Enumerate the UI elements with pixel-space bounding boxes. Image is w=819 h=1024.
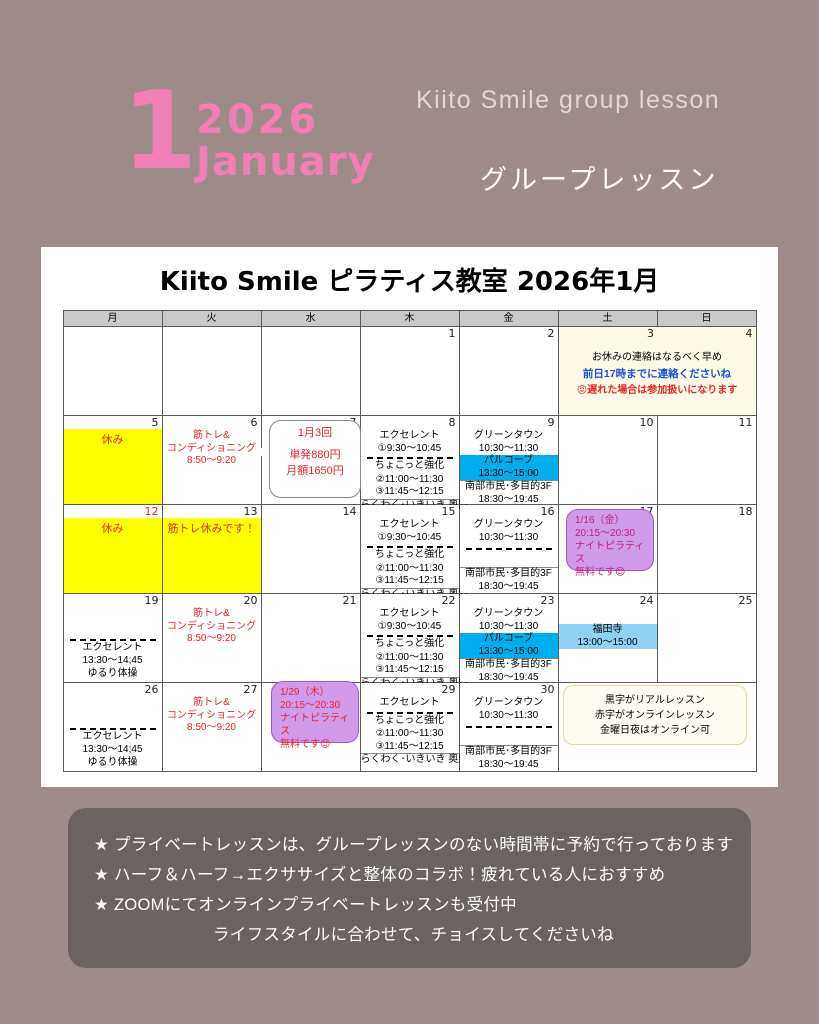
date-number: 4	[746, 327, 753, 340]
event-line: グリーンタウン	[460, 697, 558, 710]
month-name-en: January	[196, 139, 375, 185]
event-line: ちょこっと強化	[367, 712, 453, 728]
event-line: ①9:30〜10:45	[361, 621, 459, 634]
pricing-callout-tail	[249, 445, 271, 459]
date-number: 2	[548, 327, 555, 340]
calendar-cell-23[interactable]: 23 グリーンタウン 10:30〜11:30 パルコーブ 13:30〜15:00…	[459, 594, 558, 683]
date-number: 9	[548, 416, 555, 429]
calendar-cell-11[interactable]: 11	[657, 416, 756, 505]
event-line: 10:30〜11:30	[460, 443, 558, 456]
event-line: ①9:30〜10:45	[361, 443, 459, 456]
night-pilates-callout-jan16: 1/16（金） 20:15〜20:30 ナイトピラティス 無料です😊	[566, 509, 654, 571]
weekday-header-fri: 金	[459, 311, 558, 327]
event-line: 8:50〜9:20	[163, 633, 261, 646]
event-line: ちょこっと強化	[367, 457, 453, 473]
event-line: エクセレント	[361, 608, 459, 621]
year-label: 2026	[196, 97, 319, 143]
event-line: 筋トレ&	[163, 608, 261, 621]
date-number: 6	[251, 416, 258, 429]
event-line: 8:50〜9:20	[163, 722, 261, 735]
date-number: 14	[343, 505, 357, 518]
night-pilates-callout-jan29: 1/29（木） 20:15〜20:30 ナイトピラティス 無料です😊	[271, 681, 359, 743]
night-line-4: 無料です😊	[280, 738, 352, 751]
weekday-header-sun: 日	[657, 311, 756, 327]
calendar-cell-26[interactable]: 26 エクセレント 13:30〜14;45 ゆるり体操	[63, 683, 162, 772]
month-number: 1	[122, 78, 195, 186]
event-line: ②11:00〜11:30	[361, 728, 459, 741]
calendar-cell-21[interactable]: 21	[261, 594, 360, 683]
holiday-label: 休み	[64, 518, 162, 536]
event-line: ③11:45〜12:15	[361, 486, 459, 499]
date-number: 16	[541, 505, 555, 518]
event-line-highlight: 福田寺	[559, 624, 657, 637]
event-line: ゆるり体操	[64, 757, 162, 770]
date-number: 15	[442, 505, 456, 518]
event-spacer	[460, 731, 558, 745]
date-number: 5	[152, 416, 159, 429]
pricing-line-1: 1月3回	[276, 425, 354, 441]
event-line: 10:30〜11:30	[460, 532, 558, 545]
event-line: グリーンタウン	[460, 430, 558, 443]
event-line: エクセレント	[361, 430, 459, 443]
event-line: ②11:00〜11:30	[361, 652, 459, 665]
brand-subtitle-en: Kiito Smile group lesson	[416, 86, 720, 115]
divider	[466, 726, 552, 730]
calendar-cell-18[interactable]: 18	[657, 505, 756, 594]
event-line: 南部市民･多目的3F	[460, 567, 558, 581]
event-line: エクセレント	[361, 697, 459, 710]
footer-line-4: ライフスタイルに合わせて、チョイスしてくださいね	[68, 920, 751, 950]
event-line: 10:30〜11:30	[460, 710, 558, 723]
weekday-header-wed: 水	[261, 311, 360, 327]
date-number: 8	[449, 416, 456, 429]
event-line: 南部市民･多目的3F	[460, 658, 558, 672]
night-line-3: ナイトピラティス	[575, 540, 647, 566]
calendar-cell-5[interactable]: 5 休み	[63, 416, 162, 505]
calendar-title: Kiito Smile ピラティス教室 2026年1月	[41, 261, 778, 298]
date-number: 20	[244, 594, 258, 607]
brand-subtitle-jp: グループレッスン	[480, 158, 718, 197]
calendar-cell-6[interactable]: 6 筋トレ& コンディショニング 8:50〜9:20	[162, 416, 261, 505]
event-line-highlight: 13:30〜15:00	[460, 468, 558, 481]
event-line: エクセレント	[70, 639, 156, 655]
calendar-cell-14[interactable]: 14	[261, 505, 360, 594]
date-number: 22	[442, 594, 456, 607]
event-line: ゆるり体操	[64, 668, 162, 681]
calendar-cell-10[interactable]: 10	[558, 416, 657, 505]
event-line: ③11:45〜12:15	[361, 664, 459, 677]
date-number: 11	[739, 416, 753, 429]
date-number: 1	[449, 327, 456, 340]
event-line: ③11:45〜12:15	[361, 575, 459, 588]
event-line: コンディショニング	[163, 710, 261, 723]
event-line: 南部市民･多目的3F	[460, 480, 558, 494]
date-number: 13	[244, 505, 258, 518]
night-line-2: 20:15〜20:30	[575, 527, 647, 540]
date-number: 24	[640, 594, 654, 607]
notice-line-2: 前日17時までに連絡くださいね	[559, 365, 756, 383]
night-line-1: 1/29（木）	[280, 686, 352, 699]
footer-line-2: ★ ハーフ＆ハーフ→エクササイズと整体のコラボ！疲れている人におすすめ	[68, 860, 751, 890]
event-line: 筋トレ&	[163, 697, 261, 710]
night-line-1: 1/16（金）	[575, 514, 647, 527]
calendar-cell-15[interactable]: 15 エクセレント ①9:30〜10:45 ちょこっと強化 ②11:00〜11:…	[360, 505, 459, 594]
event-line-highlight: パルコーブ	[460, 455, 558, 468]
calendar-cell-19[interactable]: 19 エクセレント 13:30〜14;45 ゆるり体操	[63, 594, 162, 683]
event-line: ①9:30〜10:45	[361, 532, 459, 545]
event-line: コンディショニング	[163, 621, 261, 634]
weekday-header-tue: 火	[162, 311, 261, 327]
notice-line-1: お休みの連絡はなるべく早め	[559, 351, 756, 365]
weekday-header-sat: 土	[558, 311, 657, 327]
event-line: 筋トレ&	[163, 430, 261, 443]
event-line: ③11:45〜12:15	[361, 741, 459, 754]
footer-notes: ★ プライベートレッスンは、グループレッスンのない時間帯に予約で行っております …	[68, 808, 751, 968]
date-number: 30	[541, 683, 555, 696]
pricing-line-2: 単発880円	[276, 447, 354, 463]
footer-line-3: ★ ZOOMにてオンラインプライベートレッスンも受付中	[68, 890, 751, 920]
event-line: ちょこっと強化	[367, 635, 453, 651]
event-line: 南部市民･多目的3F	[460, 745, 558, 759]
divider	[466, 548, 552, 552]
event-line: ②11:00〜11:30	[361, 563, 459, 576]
date-number: 26	[145, 683, 159, 696]
weekday-header-row: 月 火 水 木 金 土 日	[63, 311, 756, 327]
event-line: 18:30〜19:45	[460, 759, 558, 772]
holiday-label: 休み	[64, 429, 162, 447]
calendar-cell-empty[interactable]	[162, 327, 261, 416]
calendar-cell-25[interactable]: 25	[657, 594, 756, 683]
weekday-header-thu: 木	[360, 311, 459, 327]
event-line-highlight: 13:00〜15:00	[559, 637, 657, 650]
event-line: コンディショニング	[163, 443, 261, 456]
calendar-cell-8[interactable]: 8 エクセレント ①9:30〜10:45 ちょこっと強化 ②11:00〜11:3…	[360, 416, 459, 505]
legend-line-3: 金曜日夜はオンライン可	[570, 723, 740, 738]
date-number: 21	[343, 594, 357, 607]
date-number: 12	[145, 505, 159, 518]
event-line: エクセレント	[361, 519, 459, 532]
date-number: 10	[640, 416, 654, 429]
holiday-label: 筋トレ休みです！	[163, 518, 261, 536]
date-number: 18	[739, 505, 753, 518]
calendar-cell-24[interactable]: 24 福田寺 13:00〜15:00	[558, 594, 657, 683]
date-number: 3	[647, 327, 654, 340]
event-line: グリーンタウン	[460, 608, 558, 621]
event-line: 18:30〜19:45	[460, 581, 558, 594]
date-number: 25	[739, 594, 753, 607]
pricing-line-3: 月額1650円	[276, 463, 354, 479]
event-line: らくわく･いきいき 奥野	[361, 753, 459, 767]
legend-line-2: 赤字がオンラインレッスン	[570, 708, 740, 723]
calendar-week-2: 5 休み 6 筋トレ& コンディショニング 8:50〜9:20 7 8 エクセレ…	[63, 416, 756, 505]
notice-line-3: 😡遅れた場合は参加扱いになります	[559, 383, 756, 398]
night-line-4: 無料です😊	[575, 566, 647, 579]
page-header: 1 2026 January Kiito Smile group lesson …	[0, 0, 819, 230]
event-line-highlight: パルコーブ	[460, 633, 558, 646]
event-line: 10:30〜11:30	[460, 621, 558, 634]
calendar-cell-16[interactable]: 16 グリーンタウン 10:30〜11:30 南部市民･多目的3F 18:30〜…	[459, 505, 558, 594]
night-line-3: ナイトピラティス	[280, 712, 352, 738]
calendar-cell-13[interactable]: 13 筋トレ休みです！	[162, 505, 261, 594]
event-line: 13:30〜14;45	[64, 744, 162, 757]
calendar-cell-12[interactable]: 12 休み	[63, 505, 162, 594]
date-number: 23	[541, 594, 555, 607]
calendar-cell-22[interactable]: 22 エクセレント ①9:30〜10:45 ちょこっと強化 ②11:00〜11:…	[360, 594, 459, 683]
event-line: グリーンタウン	[460, 519, 558, 532]
calendar-notice-cell[interactable]: 3 4 お休みの連絡はなるべく早め 前日17時までに連絡くださいね 😡遅れた場合…	[558, 327, 756, 416]
legend-line-1: 黒字がリアルレッスン	[570, 693, 740, 708]
event-line: ちょこっと強化	[367, 546, 453, 562]
date-number: 27	[244, 683, 258, 696]
event-line: エクセレント	[70, 728, 156, 744]
legend-callout: 黒字がリアルレッスン 赤字がオンラインレッスン 金曜日夜はオンライン可	[563, 685, 747, 745]
calendar-cell-empty[interactable]	[63, 327, 162, 416]
calendar-cell-9[interactable]: 9 グリーンタウン 10:30〜11:30 パルコーブ 13:30〜15:00 …	[459, 416, 558, 505]
pricing-callout-bubble: 1月3回 単発880円 月額1650円	[269, 420, 361, 498]
event-spacer	[460, 553, 558, 567]
night-line-2: 20:15〜20:30	[280, 699, 352, 712]
event-line-highlight: 13:30〜15:00	[460, 646, 558, 659]
event-line: ②11:00〜11:30	[361, 474, 459, 487]
footer-line-1: ★ プライベートレッスンは、グループレッスンのない時間帯に予約で行っております	[68, 830, 751, 860]
calendar-cell-30[interactable]: 30 グリーンタウン 10:30〜11:30 南部市民･多目的3F 18:30〜…	[459, 683, 558, 772]
calendar-cell-20[interactable]: 20 筋トレ& コンディショニング 8:50〜9:20	[162, 594, 261, 683]
calendar-week-1: 1 2 3 4 お休みの連絡はなるべく早め 前日17時までに連絡くださいね 😡遅…	[63, 327, 756, 416]
calendar-card: Kiito Smile ピラティス教室 2026年1月 月 火 水 木 金 土 …	[41, 247, 778, 787]
calendar-cell-1[interactable]: 1	[360, 327, 459, 416]
date-number: 29	[442, 683, 456, 696]
calendar-cell-27[interactable]: 27 筋トレ& コンディショニング 8:50〜9:20	[162, 683, 261, 772]
date-number: 19	[145, 594, 159, 607]
calendar-week-4: 19 エクセレント 13:30〜14;45 ゆるり体操 20 筋トレ& コンディ…	[63, 594, 756, 683]
calendar-cell-2[interactable]: 2	[459, 327, 558, 416]
event-line: 8:50〜9:20	[163, 455, 261, 468]
calendar-cell-empty[interactable]	[261, 327, 360, 416]
event-line: 13:30〜14;45	[64, 655, 162, 668]
calendar-cell-29[interactable]: 29 エクセレント ちょこっと強化 ②11:00〜11:30 ③11:45〜12…	[360, 683, 459, 772]
weekday-header-mon: 月	[63, 311, 162, 327]
